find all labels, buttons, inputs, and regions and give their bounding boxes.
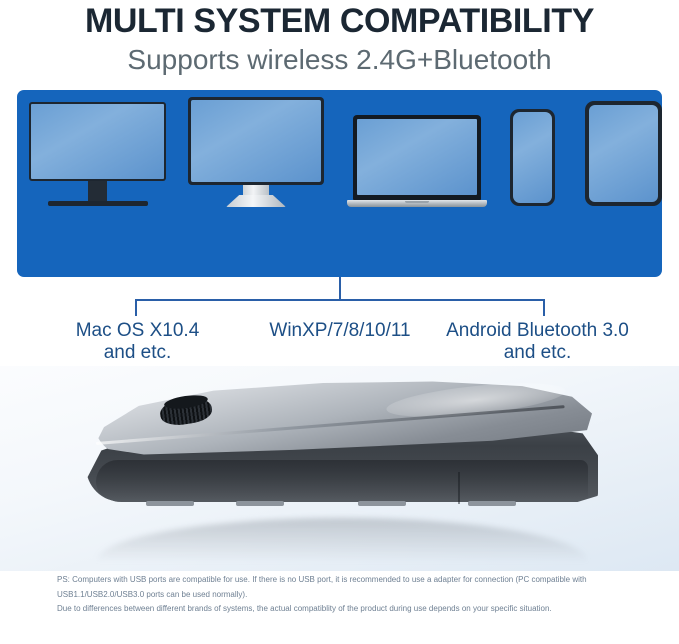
mouse-glide-foot [146,501,194,506]
wireless-mouse [86,380,598,520]
mouse-battery-seam [458,472,460,504]
mouse-glide-foot [358,501,406,506]
all-in-one-computer-icon [188,97,324,210]
tablet-body [585,101,662,206]
desktop-stand-base [48,201,148,206]
mouse-glide-foot [468,501,516,506]
aio-bezel [188,97,324,185]
smartphone-screen [513,112,552,203]
laptop-trackpad-notch [405,201,429,203]
os-label-android: Android Bluetooth 3.0 and etc. [430,320,645,364]
footnote-line-2: USB1.1/USB2.0/USB3.0 ports can be used n… [57,588,632,603]
os-label-windows: WinXP/7/8/10/11 [240,320,440,342]
smartphone-body [510,109,555,206]
footnote-line-3: Due to differences between different bra… [57,602,632,617]
mouse-glide-foot [236,501,284,506]
laptop-icon [347,115,487,212]
aio-screen [191,100,321,182]
desktop-stand-neck [88,181,107,203]
bracket-stem [339,277,341,300]
product-image-stage [0,366,679,571]
mouse-shell-shading [96,460,588,500]
desktop-bezel [29,102,166,181]
footnote-line-1: PS: Computers with USB ports are compati… [57,573,632,588]
bracket-drop-right [543,299,545,316]
laptop-lid [353,115,481,200]
footnote-block: PS: Computers with USB ports are compati… [57,573,632,617]
desktop-screen [31,104,164,179]
desktop-monitor-icon [29,102,166,207]
bracket-drop-left [135,299,137,316]
tablet-screen [589,105,658,202]
tablet-icon [585,101,662,206]
os-label-mac: Mac OS X10.4 and etc. [40,320,235,364]
laptop-screen [357,119,477,195]
mouse-reflection [96,518,588,562]
compatible-devices-panel: Desktop computer All-in-one computer lap… [17,90,662,277]
page-subtitle: Supports wireless 2.4G+Bluetooth [0,42,679,78]
header-block: MULTI SYSTEM COMPATIBILITY Supports wire… [0,0,679,78]
aio-stand-foot [226,195,286,207]
bracket-crossbar [135,299,545,301]
page-title: MULTI SYSTEM COMPATIBILITY [0,2,679,40]
connector-bracket [0,270,679,320]
smartphone-icon [510,109,555,206]
